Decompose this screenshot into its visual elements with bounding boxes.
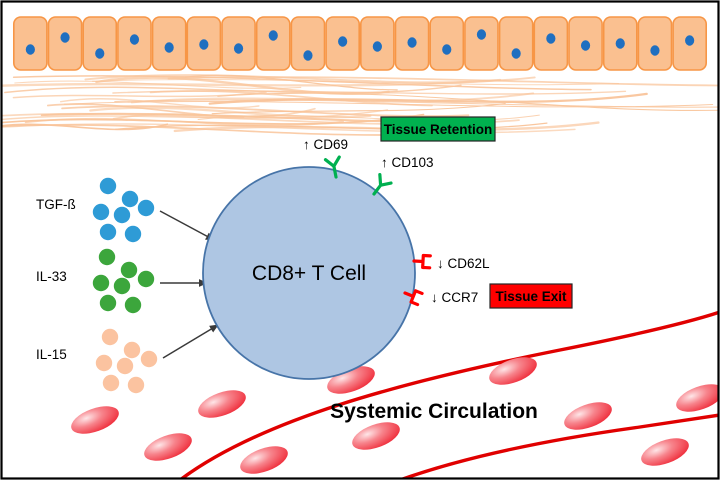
cytokine-dot — [93, 275, 109, 291]
cytokine-dot — [93, 204, 109, 220]
epithelial-nucleus — [616, 38, 625, 48]
cytokine-dot — [102, 329, 118, 345]
epithelial-cell — [257, 17, 290, 70]
epithelial-nucleus — [477, 29, 486, 39]
tissue-exit-badge: Tissue Exit — [490, 284, 572, 308]
epithelial-nucleus — [407, 37, 416, 47]
epithelial-nucleus — [269, 30, 278, 40]
receptor-label: ↑ CD69 — [303, 137, 348, 152]
epithelial-nucleus — [95, 48, 104, 58]
epithelial-nucleus — [165, 42, 174, 52]
cytokine-label: IL-33 — [36, 269, 67, 284]
cytokine-dot — [96, 355, 112, 371]
cytokine-dot — [141, 351, 157, 367]
epithelial-nucleus — [130, 34, 139, 44]
receptor-label: ↓ CD62L — [437, 256, 490, 271]
epithelial-nucleus — [685, 35, 694, 45]
cytokine-label: IL-15 — [36, 347, 67, 362]
epithelial-nucleus — [512, 48, 521, 58]
epithelial-cell — [569, 17, 602, 70]
cytokine-dot — [114, 207, 130, 223]
epithelial-nucleus — [199, 39, 208, 49]
diagram-svg: TGF-ßIL-33IL-15 CD8+ T Cell ↑ CD69↑ CD10… — [0, 0, 720, 480]
cytokine-dot — [114, 278, 130, 294]
cd8-t-cell-group[interactable]: CD8+ T Cell — [203, 167, 415, 379]
cytokine-dot — [124, 342, 140, 358]
epithelial-nucleus — [26, 44, 35, 54]
epithelial-nucleus — [581, 40, 590, 50]
cytokine-dot — [121, 262, 137, 278]
cytokine-dot — [122, 191, 138, 207]
badge-label: Tissue Retention — [384, 122, 493, 137]
epithelial-cell — [673, 17, 706, 70]
cytokine-label: TGF-ß — [36, 197, 76, 212]
epithelial-cell — [465, 17, 498, 70]
epithelial-cell — [638, 17, 671, 70]
cytokine-dot — [100, 178, 116, 194]
epithelial-cell — [83, 17, 116, 70]
epithelial-nucleus — [442, 44, 451, 54]
cytokine-dot — [138, 271, 154, 287]
epithelial-cell — [396, 17, 429, 70]
epithelial-cell — [534, 17, 567, 70]
cytokine-dot — [128, 377, 144, 393]
epithelial-cell — [326, 17, 359, 70]
epithelial-cell — [187, 17, 220, 70]
epithelial-nucleus — [303, 50, 312, 60]
epithelial-nucleus — [546, 33, 555, 43]
cytokine-dot — [117, 358, 133, 374]
epithelial-cell-layer — [14, 17, 706, 70]
epithelial-nucleus — [650, 45, 659, 55]
epithelial-cell — [153, 17, 186, 70]
epithelial-cell — [430, 17, 463, 70]
epithelial-nucleus — [338, 36, 347, 46]
epithelial-cell — [222, 17, 255, 70]
epithelial-cell — [118, 17, 151, 70]
cytokine-dot — [100, 295, 116, 311]
systemic-circulation-label: Systemic Circulation — [330, 400, 538, 423]
epithelial-cell — [604, 17, 637, 70]
cytokine-dot — [125, 297, 141, 313]
epithelial-nucleus — [234, 43, 243, 53]
tissue-retention-badge: Tissue Retention — [381, 117, 495, 141]
epithelial-cell — [14, 17, 47, 70]
epithelial-cell — [49, 17, 82, 70]
figure-canvas: TGF-ßIL-33IL-15 CD8+ T Cell ↑ CD69↑ CD10… — [0, 0, 720, 480]
badge-label: Tissue Exit — [495, 289, 567, 304]
receptor-label: ↑ CD103 — [381, 155, 434, 170]
cytokine-dot — [138, 200, 154, 216]
cytokine-dot — [100, 224, 116, 240]
cytokine-dot — [125, 226, 141, 242]
epithelial-cell — [361, 17, 394, 70]
epithelial-nucleus — [373, 41, 382, 51]
cd8-t-cell-label: CD8+ T Cell — [252, 262, 366, 285]
epithelial-cell — [500, 17, 533, 70]
cytokine-dot — [99, 249, 115, 265]
cytokine-dot — [103, 375, 119, 391]
receptor-label: ↓ CCR7 — [431, 290, 478, 305]
epithelial-cell — [291, 17, 324, 70]
epithelial-nucleus — [60, 32, 69, 42]
